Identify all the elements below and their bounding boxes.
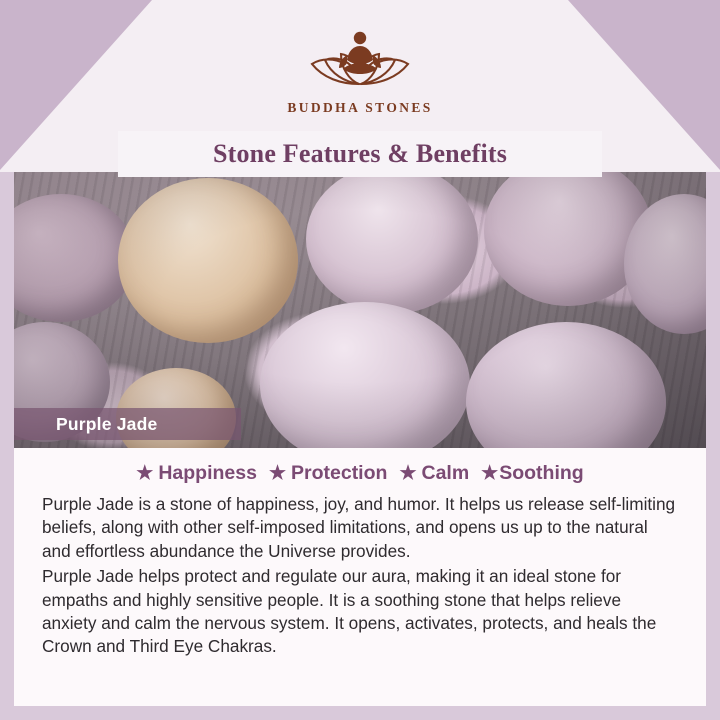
benefit-item-happiness: ★ Happiness (136, 462, 257, 485)
benefit-item-soothing: ★ Soothing (481, 462, 584, 485)
benefit-item-protection: ★ Protection (269, 462, 387, 485)
content-panel: ★ Happiness ★ Protection ★ Calm ★ Soothi… (14, 448, 706, 706)
brand-logo: BUDDHA STONES (0, 22, 720, 116)
hero-image (14, 172, 706, 448)
infographic-page: BUDDHA STONES Stone Features & Benefits … (0, 0, 720, 720)
stone-name-tag: Purple Jade (14, 408, 241, 440)
bottom-edge-strip (0, 706, 720, 720)
star-icon: ★ (399, 462, 416, 485)
benefit-label: Protection (291, 462, 387, 485)
hero-vignette (14, 172, 706, 448)
description-block: Purple Jade is a stone of happiness, joy… (14, 485, 706, 659)
brand-name: BUDDHA STONES (0, 100, 720, 116)
section-title-ribbon: Stone Features & Benefits (118, 131, 602, 177)
star-icon: ★ (269, 462, 286, 485)
star-icon: ★ (481, 462, 498, 485)
description-paragraph-2: Purple Jade helps protect and regulate o… (42, 565, 680, 659)
benefit-label: Happiness (158, 462, 257, 485)
stone-name-label: Purple Jade (56, 414, 157, 435)
benefit-label: Soothing (499, 462, 583, 485)
benefit-label: Calm (421, 462, 469, 485)
benefits-row: ★ Happiness ★ Protection ★ Calm ★ Soothi… (14, 448, 706, 485)
description-paragraph-1: Purple Jade is a stone of happiness, joy… (42, 493, 680, 563)
page-title: Stone Features & Benefits (213, 139, 507, 169)
benefit-item-calm: ★ Calm (399, 462, 469, 485)
star-icon: ★ (136, 462, 153, 485)
lotus-buddha-icon (285, 22, 435, 96)
